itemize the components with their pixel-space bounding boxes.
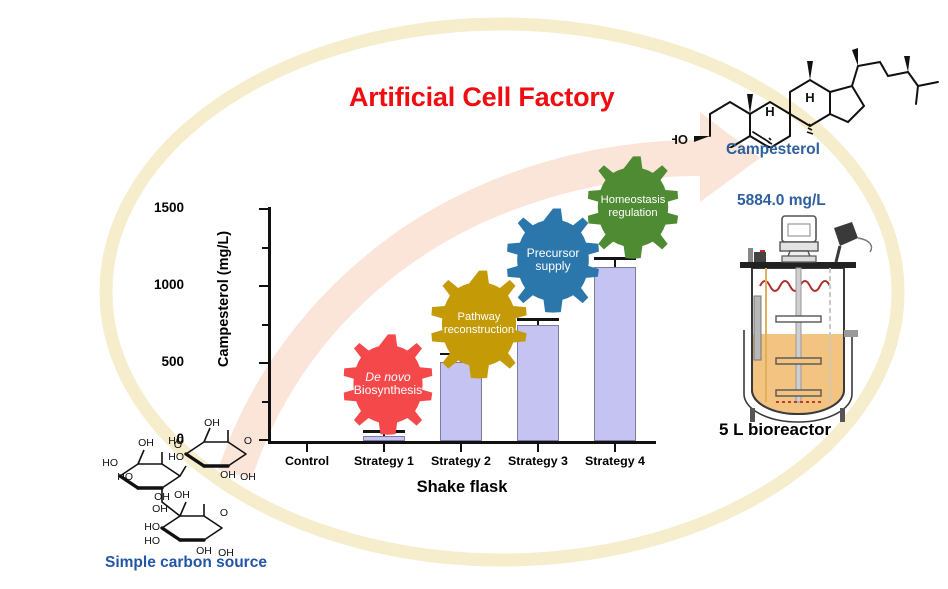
oh-label: HO (102, 457, 118, 469)
graphical-abstract: Artificial Cell Factory Campesterol (mg/… (0, 0, 948, 589)
h-label-1: H (765, 104, 774, 119)
x-axis-title: Shake flask (268, 478, 656, 497)
bioreactor-illustration (730, 212, 910, 424)
oh-label: HO (168, 435, 184, 447)
campesterol-label: Campesterol (726, 141, 820, 159)
x-category-strategy-4: Strategy 4 (576, 454, 654, 468)
x-category-strategy-2: Strategy 2 (422, 454, 500, 468)
carbon-source-structure: HO HO OH OH OH O HO HO OH OH OH O OH HO … (100, 418, 310, 558)
page-title: Artificial Cell Factory (349, 82, 669, 113)
oh-label: HO (117, 471, 133, 483)
gear-homeostasis-regulation[interactable]: Homeostasis regulation (578, 152, 688, 262)
h-label-2: H (805, 90, 814, 105)
x-tick-strategy-1 (383, 444, 385, 452)
oh-label: OH (240, 471, 256, 483)
oh-label: HO (168, 451, 184, 463)
y-tick-1000 (259, 285, 268, 287)
oh-label: HO (144, 535, 160, 547)
y-axis-title: Campesterol (mg/L) (216, 183, 232, 415)
oh-label: HO (144, 521, 160, 533)
bioreactor-label: 5 L bioreactor (719, 420, 831, 440)
ring-oxygen-label: O (244, 435, 252, 447)
oh-label: OH (204, 418, 220, 429)
y-tick-label-500: 500 (161, 354, 184, 369)
y-tick-label-1000: 1000 (154, 277, 184, 292)
campesterol-structure: HO H H (672, 28, 944, 148)
oh-label: OH (154, 491, 170, 503)
ring-oxygen-label: O (220, 507, 228, 519)
y-tick-500 (259, 362, 268, 364)
carbon-source-label: Simple carbon source (105, 554, 267, 572)
x-tick-strategy-4 (614, 444, 616, 452)
gear-icon (578, 152, 688, 262)
x-tick-strategy-2 (460, 444, 462, 452)
y-tick-label-1500: 1500 (154, 200, 184, 215)
y-tick-1500 (259, 208, 268, 210)
oh-label: OH (220, 469, 236, 481)
titer-label: 5884.0 mg/L (737, 192, 826, 210)
x-category-strategy-3: Strategy 3 (499, 454, 577, 468)
oh-label: OH (138, 437, 154, 449)
x-category-strategy-1: Strategy 1 (345, 454, 423, 468)
hydroxyl-label: HO (672, 132, 688, 147)
oh-label: OH (174, 489, 190, 501)
oh-label: OH (152, 503, 168, 515)
x-tick-strategy-3 (537, 444, 539, 452)
